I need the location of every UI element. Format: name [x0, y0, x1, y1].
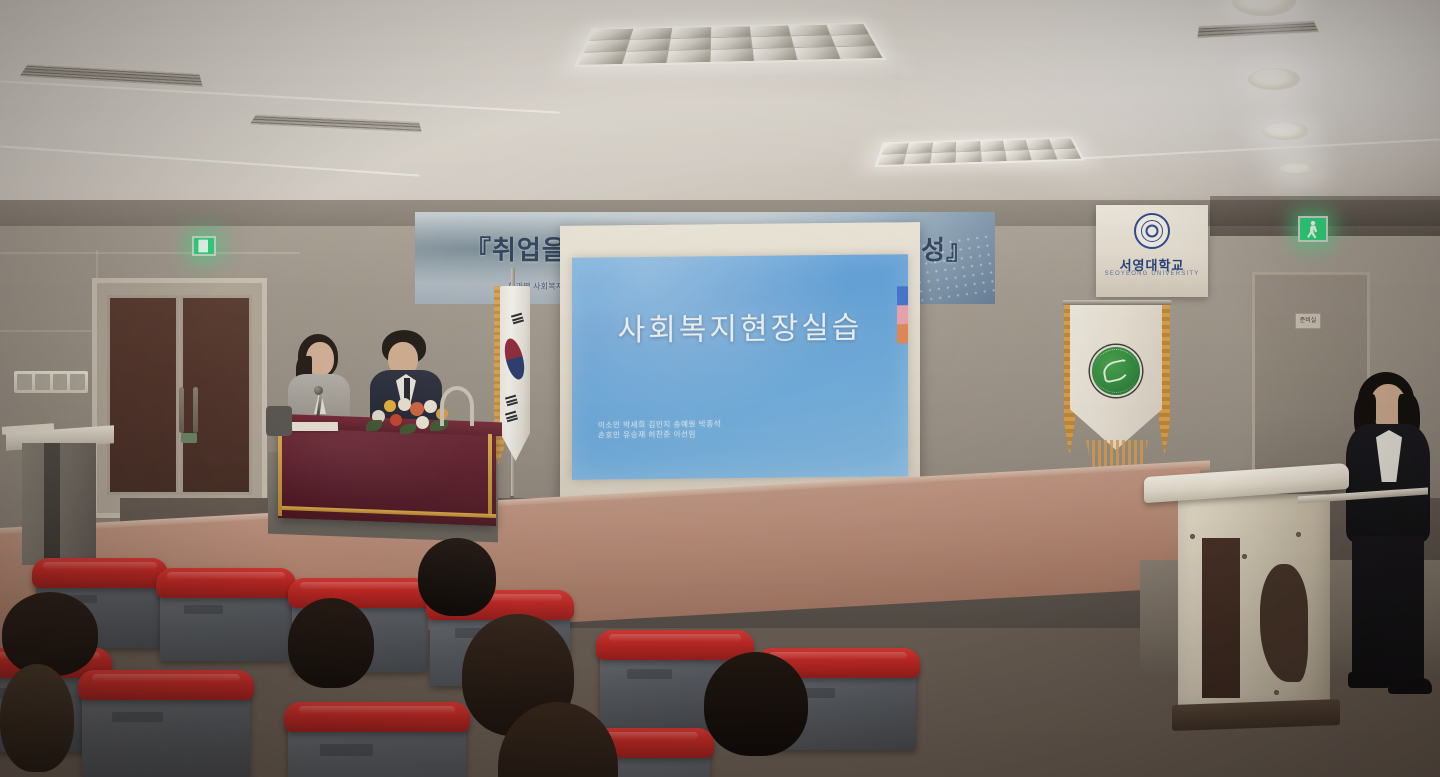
slide-title: 사회복지현장실습 — [572, 302, 908, 350]
trigram — [505, 411, 518, 423]
ceiling-grid-light — [574, 22, 887, 67]
stage-chair-frame — [440, 386, 474, 426]
taeguk-symbol — [501, 337, 528, 382]
university-name-english: SEOYEONG UNIVERSITY — [1096, 271, 1208, 277]
speaker-shoe-right — [1388, 678, 1432, 694]
podium-base — [1172, 699, 1340, 731]
side-table-post — [44, 443, 60, 565]
table-cloth-gold-edge — [278, 432, 282, 516]
speaker-shoe-left — [1348, 672, 1390, 688]
double-door[interactable] — [92, 278, 267, 518]
audience-head — [2, 592, 98, 676]
seat[interactable] — [288, 702, 466, 777]
door-leaf-right[interactable] — [180, 295, 252, 495]
stage-chair — [266, 406, 292, 436]
presentation-slide: 사회복지현장실습 이소민 박세희 김민지 송예원 박종석 손호민 유승재 허찬준… — [572, 254, 908, 480]
switch-toggle[interactable] — [70, 374, 85, 390]
pennant-rod — [1062, 300, 1172, 305]
wall-panel-seam — [0, 252, 300, 254]
exit-sign-left — [192, 236, 216, 256]
trigram — [511, 313, 524, 325]
head-table — [262, 418, 502, 538]
door-plate-sign: 준비실 — [1295, 313, 1321, 329]
flag-cloth — [500, 286, 530, 461]
seat[interactable] — [160, 568, 292, 664]
pennant-cloth — [1070, 305, 1162, 450]
trigram — [505, 395, 518, 407]
podium-screw — [1274, 690, 1279, 695]
slide-authors: 이소민 박세희 김민지 송예원 박종석 손호민 유승재 허찬준 이선임 — [598, 418, 848, 441]
social-welfare-emblem-icon — [1090, 345, 1142, 397]
ceiling-downlight — [1278, 163, 1316, 175]
switch-toggle[interactable] — [17, 374, 32, 390]
table-cloth-gold-edge — [488, 434, 492, 514]
audience-head — [288, 598, 374, 688]
audience-head — [0, 664, 74, 772]
swatch-orange — [897, 324, 908, 343]
speaker-trousers — [1352, 536, 1424, 684]
ceiling-downlight — [1262, 122, 1308, 140]
door-push-plate[interactable] — [181, 433, 197, 443]
department-pennant — [1062, 300, 1172, 485]
light-switch-panel[interactable] — [14, 371, 88, 393]
audience-head — [704, 652, 808, 756]
door-handle-right[interactable] — [193, 387, 198, 433]
microphone-head — [314, 386, 323, 395]
slide-color-swatches — [897, 286, 908, 343]
exit-sign-right — [1298, 216, 1328, 242]
podium-body — [1178, 494, 1330, 709]
podium-side-cutout — [1260, 564, 1308, 682]
university-seal-icon — [1134, 213, 1170, 249]
podium-front-panel — [1202, 538, 1240, 698]
switch-toggle[interactable] — [53, 374, 68, 390]
side-table — [0, 415, 118, 565]
audience-seating — [0, 552, 1100, 777]
university-banner: 서영대학교 SEOYEONG UNIVERSITY — [1096, 205, 1208, 297]
seat[interactable] — [82, 670, 250, 777]
swatch-pink — [897, 305, 908, 324]
projection-screen: 사회복지현장실습 이소민 박세희 김민지 송예원 박종석 손호민 유승재 허찬준… — [560, 222, 920, 516]
podium-speaker — [1330, 372, 1440, 702]
swatch-blue — [897, 286, 908, 305]
document-on-table — [292, 422, 338, 431]
podium — [1178, 470, 1338, 735]
wall-panel-seam — [0, 330, 96, 332]
switch-toggle[interactable] — [35, 374, 50, 390]
audience-head — [418, 538, 496, 616]
ceiling-light-haze — [900, 0, 1440, 215]
slide-authors-line-2: 손호민 유승재 허찬준 이선임 — [598, 428, 848, 441]
door-handle-left[interactable] — [179, 387, 184, 433]
podium-screw — [1242, 554, 1247, 559]
podium-screw — [1190, 534, 1195, 539]
ceiling-downlight — [1248, 68, 1300, 90]
podium-screw — [1296, 532, 1301, 537]
auditorium-photo: 『취업을 위 작성』 학과명 사회복지 사회복지현장실습 이소민 박세희 김민지… — [0, 0, 1440, 777]
